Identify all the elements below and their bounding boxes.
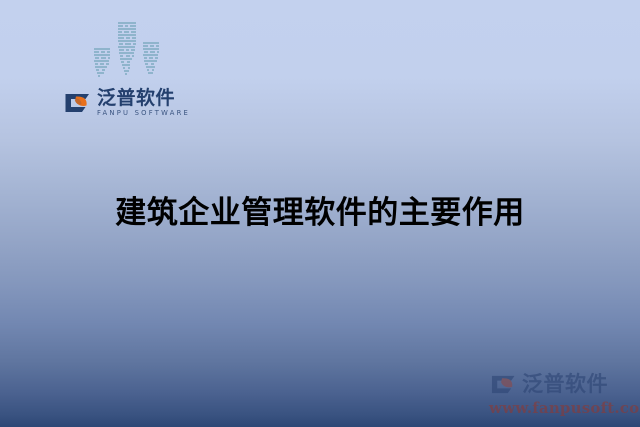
fanpu-logo-mark-icon	[488, 372, 518, 397]
watermark-brand-name: 泛普软件	[522, 374, 608, 395]
brand-logo: 泛普软件 FANPU SOFTWARE	[62, 86, 193, 120]
slide-canvas: 泛普软件 FANPU SOFTWARE 建筑企业管理软件的主要作用 泛普软件 w…	[0, 0, 640, 427]
brand-logo-text: 泛普软件 FANPU SOFTWARE	[97, 89, 193, 117]
fanpu-logo-mark-icon	[62, 90, 92, 116]
watermark: 泛普软件 www.fanpusoft.com	[488, 370, 638, 420]
brand-name-cn: 泛普软件	[97, 89, 193, 108]
brand-name-en: FANPU SOFTWARE	[97, 110, 190, 117]
watermark-url: www.fanpusoft.com	[488, 399, 638, 417]
watermark-logo-row: 泛普软件	[488, 370, 638, 398]
slide-headline: 建筑企业管理软件的主要作用	[0, 193, 640, 233]
pixel-city-skyline-graphic	[88, 14, 168, 80]
